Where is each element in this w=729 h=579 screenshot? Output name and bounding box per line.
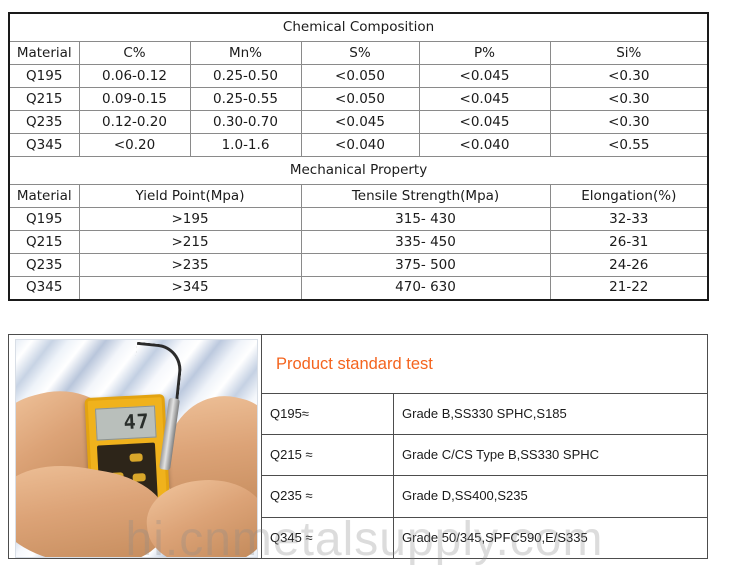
cell-material: Q215 [9,88,79,111]
gauge-display: 47 [95,406,157,441]
cell-material: Q235 [9,254,79,277]
gauge-button [129,453,142,462]
cell-mn: 0.25-0.55 [190,88,301,111]
chemical-header-material: Material [9,42,79,65]
cell-grade-label: Q215 ≈ [262,435,394,476]
product-standard-test-table: 47 Product standard test [8,334,708,559]
specification-table: Chemical Composition Material C% Mn% S% … [8,12,709,301]
cell-yield: >235 [79,254,301,277]
mechanical-header-material: Material [9,185,79,208]
cell-s: <0.050 [301,65,419,88]
cell-material: Q215 [9,231,79,254]
cell-c: 0.12-0.20 [79,111,190,134]
cell-si: <0.30 [550,111,708,134]
cell-elongation: 24-26 [550,254,708,277]
cell-c: <0.20 [79,134,190,157]
cell-s: <0.045 [301,111,419,134]
cell-grade-equivalents: Grade D,SS400,S235 [394,476,708,517]
cell-p: <0.045 [419,88,550,111]
chemical-composition-title-row: Chemical Composition [9,13,708,42]
cell-c: 0.06-0.12 [79,65,190,88]
mechanical-header-elongation: Elongation(%) [550,185,708,208]
cell-tensile: 375- 500 [301,254,550,277]
chemical-header-mn: Mn% [190,42,301,65]
table-row: Q345 <0.20 1.0-1.6 <0.040 <0.040 <0.55 [9,134,708,157]
cell-grade-equivalents: Grade 50/345,SPFC590,E/S335 [394,517,708,558]
cell-material: Q345 [9,277,79,300]
cell-grade-label: Q195≈ [262,393,394,434]
chemical-header-s: S% [301,42,419,65]
chemical-composition-title: Chemical Composition [9,13,708,42]
cell-s: <0.050 [301,88,419,111]
cell-tensile: 470- 630 [301,277,550,300]
cell-mn: 0.30-0.70 [190,111,301,134]
cell-elongation: 26-31 [550,231,708,254]
cell-grade-label: Q235 ≈ [262,476,394,517]
cell-tensile: 315- 430 [301,208,550,231]
cell-elongation: 21-22 [550,277,708,300]
cell-yield: >345 [79,277,301,300]
cell-mn: 0.25-0.50 [190,65,301,88]
table-row: Q215 >215 335- 450 26-31 [9,231,708,254]
cell-material: Q195 [9,208,79,231]
cell-elongation: 32-33 [550,208,708,231]
cell-yield: >195 [79,208,301,231]
gauge-reading-value: 47 [123,410,150,433]
coating-thickness-gauge-photo: 47 [15,339,258,558]
product-photo-cell: 47 [9,335,262,559]
cell-grade-equivalents: Grade C/CS Type B,SS330 SPHC [394,435,708,476]
cell-tensile: 335- 450 [301,231,550,254]
cell-grade-label: Q345 ≈ [262,517,394,558]
mechanical-header-yield: Yield Point(Mpa) [79,185,301,208]
cell-grade-equivalents: Grade B,SS330 SPHC,S185 [394,393,708,434]
chemical-header-c: C% [79,42,190,65]
cell-yield: >215 [79,231,301,254]
cell-p: <0.045 [419,65,550,88]
table-row: Q235 >235 375- 500 24-26 [9,254,708,277]
table-row: Q195 0.06-0.12 0.25-0.50 <0.050 <0.045 <… [9,65,708,88]
chemical-header-si: Si% [550,42,708,65]
table-row: Q215 0.09-0.15 0.25-0.55 <0.050 <0.045 <… [9,88,708,111]
cell-s: <0.040 [301,134,419,157]
cell-si: <0.55 [550,134,708,157]
mechanical-header-tensile: Tensile Strength(Mpa) [301,185,550,208]
chemical-header-p: P% [419,42,550,65]
cell-material: Q235 [9,111,79,134]
cell-mn: 1.0-1.6 [190,134,301,157]
cell-material: Q195 [9,65,79,88]
cell-material: Q345 [9,134,79,157]
table-row: Q345 >345 470- 630 21-22 [9,277,708,300]
product-standard-test-title: Product standard test [262,335,708,394]
cell-si: <0.30 [550,65,708,88]
cell-c: 0.09-0.15 [79,88,190,111]
mechanical-property-title: Mechanical Property [9,157,708,185]
cell-p: <0.040 [419,134,550,157]
cell-si: <0.30 [550,88,708,111]
chemical-header-row: Material C% Mn% S% P% Si% [9,42,708,65]
table-row: Q235 0.12-0.20 0.30-0.70 <0.045 <0.045 <… [9,111,708,134]
mechanical-header-row: Material Yield Point(Mpa) Tensile Streng… [9,185,708,208]
cell-p: <0.045 [419,111,550,134]
standard-title-row: 47 Product standard test [9,335,708,394]
table-row: Q195 >195 315- 430 32-33 [9,208,708,231]
mechanical-property-title-row: Mechanical Property [9,157,708,185]
